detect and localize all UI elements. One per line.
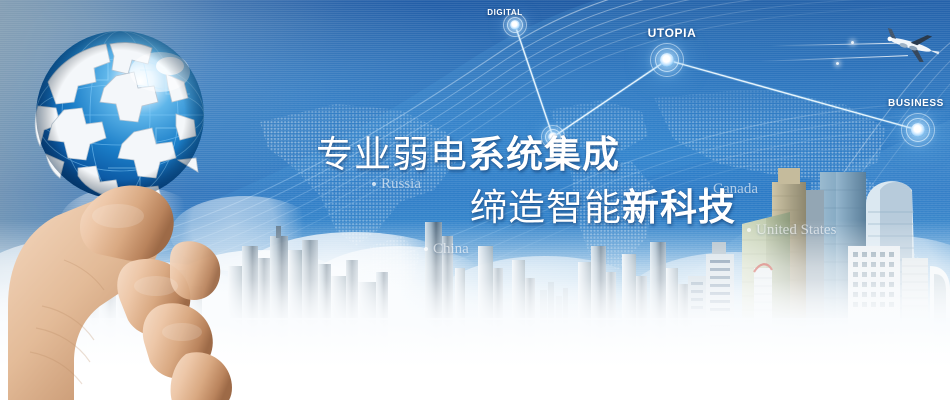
network-node-label-digital: DIGITAL bbox=[487, 8, 523, 17]
map-label-dot bbox=[747, 228, 751, 232]
headline-line-2-regular: 缔造智能 bbox=[470, 187, 622, 228]
contrail-dot-1 bbox=[851, 41, 854, 44]
map-label-text: United States bbox=[756, 222, 836, 238]
headline-block: 专业弱电系统集成 缔造智能新科技 bbox=[316, 136, 736, 226]
headline-line-2-bold: 新科技 bbox=[622, 187, 736, 228]
airplane-icon bbox=[880, 28, 942, 62]
map-label-china: China bbox=[424, 241, 469, 258]
network-node-utopia[interactable] bbox=[650, 43, 684, 77]
node-core-glow bbox=[911, 123, 925, 137]
node-core-glow bbox=[510, 20, 520, 30]
map-label-text: China bbox=[433, 241, 469, 257]
headline-line-1: 专业弱电系统集成 bbox=[316, 136, 736, 173]
map-label-dot bbox=[424, 247, 428, 251]
headline-line-1-bold: 系统集成 bbox=[468, 134, 620, 175]
network-node-business[interactable] bbox=[901, 113, 935, 147]
hero-banner: DIGITAL UTOPIA BUSINESS bbox=[0, 0, 950, 400]
network-node-label-utopia: UTOPIA bbox=[648, 26, 697, 40]
hand-graphic bbox=[8, 186, 232, 400]
headline-line-2: 缔造智能新科技 bbox=[316, 189, 736, 226]
globe-graphic bbox=[35, 31, 204, 200]
node-core-glow bbox=[660, 53, 674, 67]
map-label-united-states: United States bbox=[747, 222, 836, 239]
network-node-label-business: BUSINESS bbox=[888, 98, 944, 109]
headline-line-1-regular: 专业弱电 bbox=[316, 134, 468, 175]
hand-holding-globe bbox=[0, 10, 300, 400]
contrail-dot-2 bbox=[836, 62, 839, 65]
